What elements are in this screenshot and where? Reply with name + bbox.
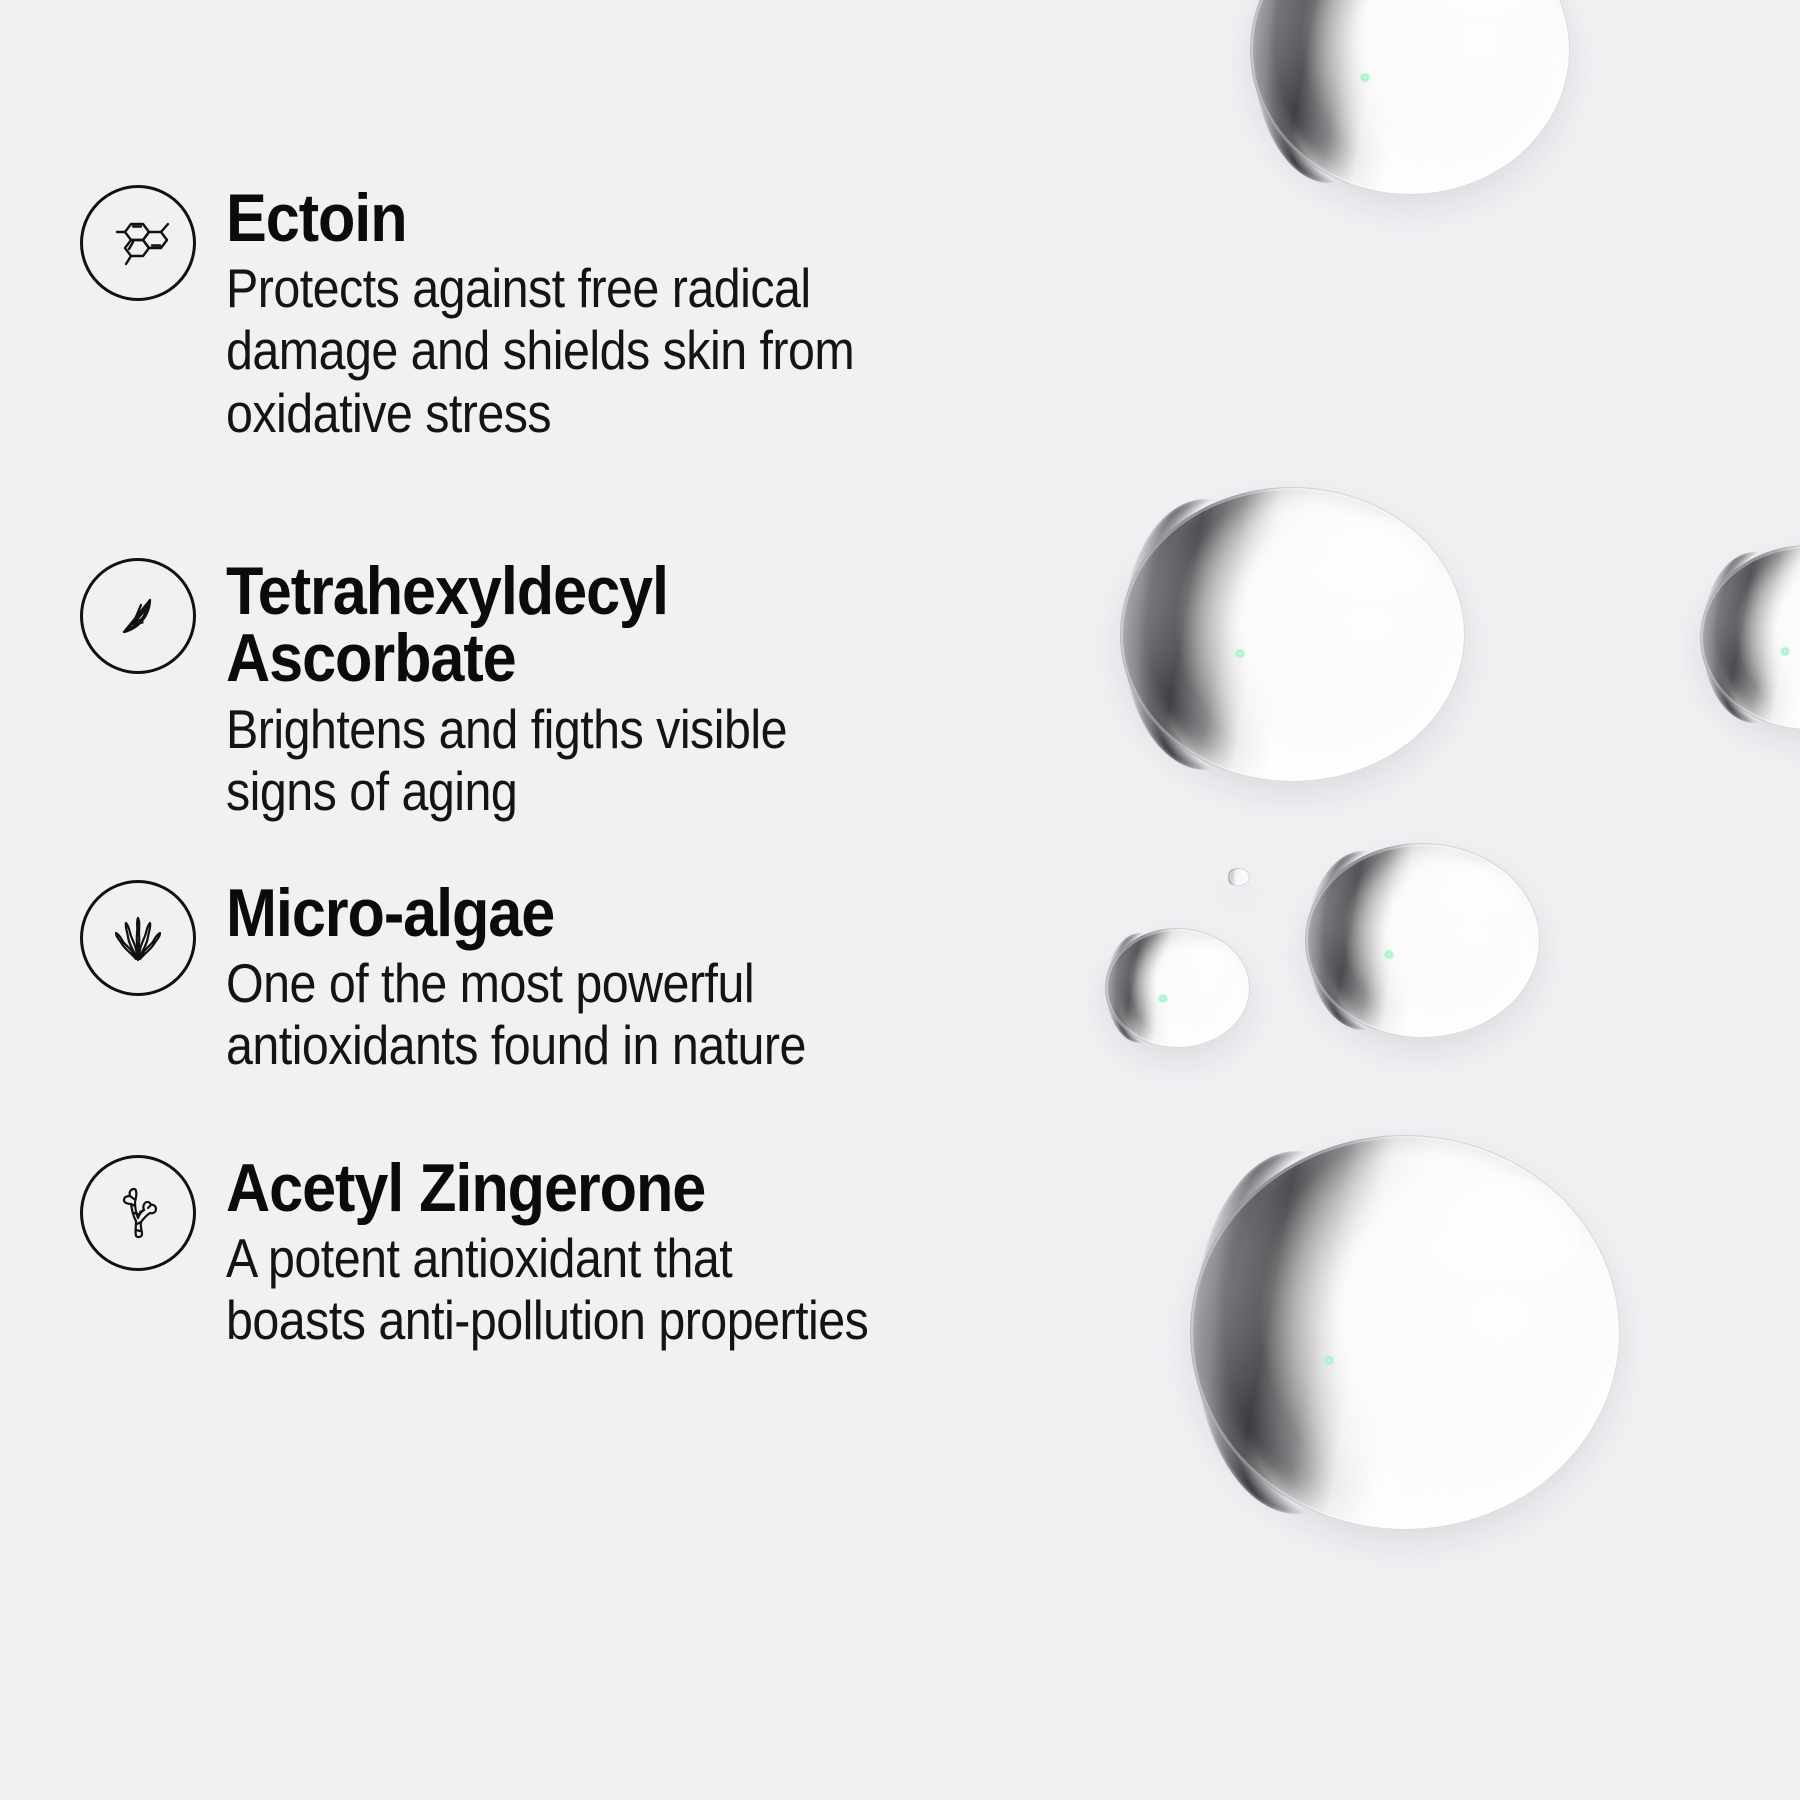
- ingredient-list: Ectoin Protects against free radical dam…: [0, 0, 1800, 1800]
- feature-title: Ectoin: [226, 185, 868, 252]
- feature-description: Protects against free radical damage and…: [226, 257, 854, 443]
- feature-item-ectoin: Ectoin Protects against free radical dam…: [80, 185, 940, 444]
- feature-description: A potent antioxidant that boasts anti-po…: [226, 1227, 868, 1351]
- molecule-hexagon-icon: [80, 185, 196, 301]
- feature-title: Micro-algae: [226, 880, 819, 947]
- feature-item-micro-algae: Micro-algae One of the most powerful ant…: [80, 880, 885, 1077]
- citrus-slice-icon: [80, 558, 196, 674]
- feature-description: Brightens and figths visible signs of ag…: [226, 698, 787, 822]
- seaweed-algae-icon: [80, 880, 196, 996]
- ginger-root-icon: [80, 1155, 196, 1271]
- feature-item-acetyl-zingerone: Acetyl Zingerone A potent antioxidant th…: [80, 1155, 956, 1352]
- poster-canvas: Ectoin Protects against free radical dam…: [0, 0, 1800, 1800]
- feature-title: Tetrahexyldecyl Ascorbate: [226, 558, 800, 693]
- feature-title: Acetyl Zingerone: [226, 1155, 883, 1222]
- feature-item-tetrahexyldecyl-ascorbate: Tetrahexyldecyl Ascorbate Brightens and …: [80, 558, 863, 822]
- feature-description: One of the most powerful antioxidants fo…: [226, 952, 806, 1076]
